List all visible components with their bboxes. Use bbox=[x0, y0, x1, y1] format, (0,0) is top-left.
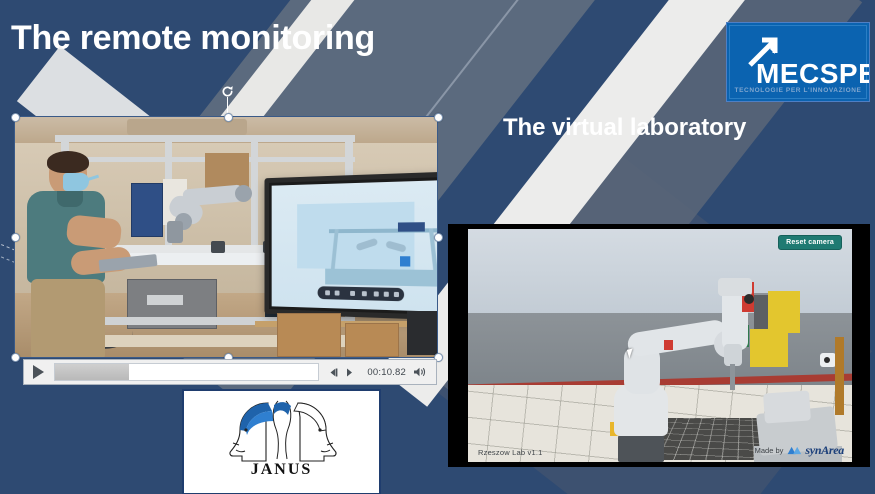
reset-camera-button[interactable]: Reset camera bbox=[778, 235, 842, 250]
dt-base bbox=[325, 269, 437, 287]
section-title: The virtual laboratory bbox=[503, 114, 746, 142]
toolbar-dot bbox=[335, 291, 340, 296]
scene-fixture-top bbox=[763, 390, 811, 423]
operator-hair bbox=[47, 151, 89, 173]
video-progress-fill bbox=[55, 364, 129, 380]
robot-tool-tip bbox=[730, 364, 735, 390]
photo-robot-tool bbox=[167, 221, 183, 243]
mecspe-wordmark: MECSPE bbox=[756, 58, 870, 90]
janus-logo-card: JANUS bbox=[182, 389, 381, 494]
dt-arm bbox=[355, 238, 378, 252]
mecspe-logo-inner: MECSPE TECNOLOGIE PER L'INNOVAZIONE bbox=[729, 25, 867, 99]
toolbar-dot bbox=[362, 291, 367, 296]
dt-blue-module bbox=[398, 222, 425, 232]
toolbar-dot bbox=[350, 291, 355, 296]
dt-badge bbox=[400, 256, 410, 266]
resize-handle-top-center[interactable] bbox=[224, 113, 233, 122]
rotate-handle-stem bbox=[227, 97, 228, 114]
virtual-lab-credit: Made by synArea bbox=[755, 443, 844, 458]
photo-control-panel bbox=[131, 183, 163, 237]
robot-base bbox=[618, 432, 664, 462]
janus-wordmark: JANUS bbox=[184, 461, 379, 479]
photo-cabinet-label bbox=[147, 295, 183, 305]
previous-frame-icon[interactable] bbox=[325, 367, 341, 378]
virtual-lab-scene[interactable]: Reset camera Rzeszow Lab v1.1 Made by sy… bbox=[468, 229, 852, 462]
toolbar-dot bbox=[394, 292, 399, 297]
photo-rig-beam bbox=[55, 135, 355, 142]
photo-content bbox=[15, 117, 437, 357]
credit-prefix: Made by bbox=[755, 446, 784, 455]
toolbar-dot bbox=[384, 292, 389, 297]
scene-wooden-post bbox=[835, 337, 844, 415]
photo-robot-joint bbox=[235, 185, 252, 202]
photo-fixture bbox=[211, 241, 225, 253]
photo-display-screen bbox=[272, 180, 437, 312]
janus-two-faces-icon bbox=[216, 397, 348, 463]
photo-stool bbox=[407, 311, 437, 355]
resize-handle-bottom-left[interactable] bbox=[11, 353, 20, 362]
toolbar-dot bbox=[325, 290, 330, 295]
photo-rig-post bbox=[251, 135, 258, 255]
photo-carton bbox=[345, 323, 399, 357]
scene-yellow-machine bbox=[768, 291, 800, 333]
dt-post bbox=[331, 229, 339, 271]
scene-yellow-machine bbox=[750, 329, 788, 367]
presentation-slide: The remote monitoring The virtual labora… bbox=[0, 0, 875, 494]
robot-camera-icon bbox=[744, 294, 754, 304]
operator-face-mask bbox=[63, 173, 89, 191]
synarea-logo-icon bbox=[786, 445, 802, 456]
video-control-bar[interactable]: 00:10.82 bbox=[23, 359, 437, 385]
video-timestamp: 00:10.82 bbox=[367, 367, 406, 378]
volume-icon[interactable] bbox=[413, 366, 427, 378]
play-button-icon[interactable] bbox=[33, 365, 44, 379]
resize-handle-middle-left[interactable] bbox=[11, 233, 20, 242]
photo-display-toolbar bbox=[318, 286, 405, 301]
resize-handle-top-left[interactable] bbox=[11, 113, 20, 122]
video-progress-track[interactable] bbox=[54, 363, 319, 381]
photo-digital-twin-render bbox=[297, 202, 414, 270]
virtual-lab-version-label: Rzeszow Lab v1.1 bbox=[478, 448, 542, 457]
mecspe-logo: MECSPE TECNOLOGIE PER L'INNOVAZIONE bbox=[726, 22, 870, 102]
photo-wall-display bbox=[265, 171, 437, 320]
remote-monitoring-photo[interactable] bbox=[15, 117, 437, 357]
operator-collar bbox=[57, 191, 83, 207]
photo-operator bbox=[23, 153, 109, 357]
operator-arm bbox=[66, 214, 123, 249]
virtual-laboratory-viewport[interactable]: Reset camera Rzeszow Lab v1.1 Made by sy… bbox=[448, 224, 870, 467]
resize-handle-middle-right[interactable] bbox=[434, 233, 443, 242]
robot-red-marker bbox=[664, 340, 673, 350]
operator-legs bbox=[31, 279, 105, 357]
mecspe-tagline: TECNOLOGIE PER L'INNOVAZIONE bbox=[730, 87, 866, 94]
robot-wrist bbox=[724, 344, 742, 366]
dt-arm bbox=[385, 240, 407, 252]
photo-carton bbox=[277, 313, 341, 357]
scene-wall-sensor-lens bbox=[824, 357, 830, 363]
resize-handle-top-right[interactable] bbox=[434, 113, 443, 122]
toolbar-dot bbox=[374, 291, 379, 296]
next-frame-icon[interactable] bbox=[341, 367, 357, 378]
credit-brand: synArea bbox=[805, 443, 844, 458]
